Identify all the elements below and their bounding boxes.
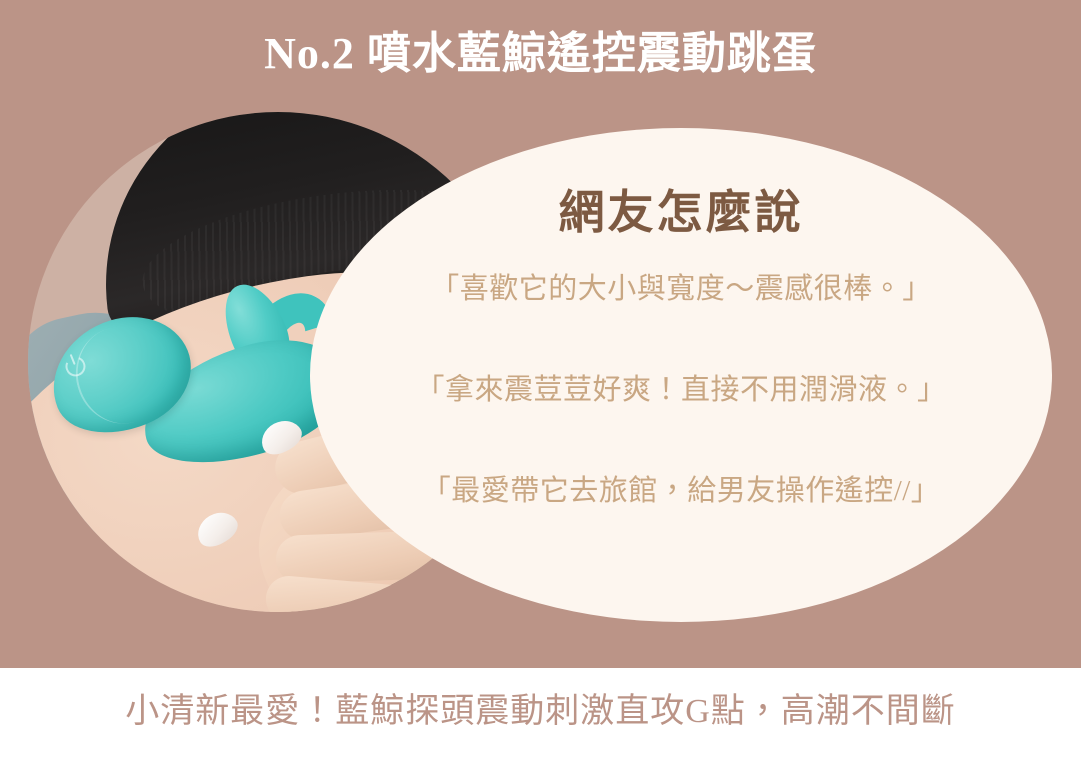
caption-strip: 小清新最愛！藍鯨探頭震動刺激直攻G點，高潮不間斷: [0, 668, 1081, 757]
product-promo-banner: No.2 噴水藍鯨遙控震動跳蛋 網友怎麼說 「喜歡它的大小與寬度～震感很棒。」 …: [0, 0, 1081, 757]
page-title: No.2 噴水藍鯨遙控震動跳蛋: [0, 26, 1081, 81]
testimonial-heading: 網友怎麼說: [310, 185, 1052, 240]
testimonial-list: 「喜歡它的大小與寬度～震感很棒。」 「拿來震荳荳好爽！直接不用潤滑液。」 「最愛…: [310, 270, 1052, 511]
hero-background: No.2 噴水藍鯨遙控震動跳蛋 網友怎麼說 「喜歡它的大小與寬度～震感很棒。」 …: [0, 0, 1081, 668]
testimonial-quote: 「喜歡它的大小與寬度～震感很棒。」: [310, 270, 1052, 309]
caption-text: 小清新最愛！藍鯨探頭震動刺激直攻G點，高潮不間斷: [125, 692, 956, 733]
testimonial-quote: 「最愛帶它去旅館，給男友操作遙控//」: [310, 472, 1052, 511]
testimonial-quote: 「拿來震荳荳好爽！直接不用潤滑液。」: [310, 371, 1052, 410]
